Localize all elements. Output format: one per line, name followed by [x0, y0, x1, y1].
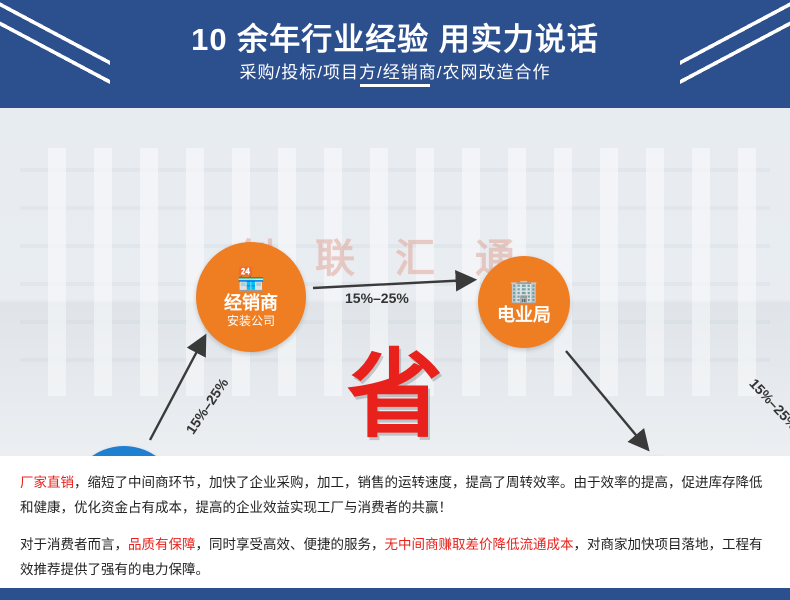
paragraph-1-highlight: 厂家直销 — [20, 475, 74, 490]
node-power-bureau-label: 电业局 — [497, 305, 551, 326]
page-root: 10 余年行业经验 用实力说话 采购/投标/项目方/经销商/农网改造合作 创联汇… — [0, 0, 790, 600]
paragraph-2-highlight-2: 无中间商赚取差价降低流通成本 — [385, 537, 574, 552]
page-header: 10 余年行业经验 用实力说话 采购/投标/项目方/经销商/农网改造合作 — [0, 0, 790, 108]
footer-stripe — [0, 588, 790, 600]
paragraph-2-text-a: 对于消费者而言， — [20, 537, 128, 552]
node-dealer-sublabel: 安装公司 — [227, 314, 275, 328]
building-icon: 🏢 — [510, 279, 539, 303]
page-subtitle: 采购/投标/项目方/经销商/农网改造合作 — [0, 58, 790, 83]
paragraph-1: 厂家直销，缩短了中间商环节，加快了企业采购，加工，销售的运转速度，提高了周转效率… — [20, 470, 770, 520]
flow-diagram: 创联汇通 🏪 经销商 安装公司 🏢 电业局 — [0, 108, 790, 456]
page-title: 10 余年行业经验 用实力说话 — [0, 14, 790, 59]
node-dealer-label: 经销商 — [224, 293, 278, 314]
paragraph-2-highlight-1: 品质有保障 — [128, 537, 196, 552]
node-power-bureau[interactable]: 🏢 电业局 — [478, 256, 570, 348]
paragraph-1-text: ，缩短了中间商环节，加快了企业采购，加工，销售的运转速度，提高了周转效率。由于效… — [20, 475, 763, 515]
center-save-character: 省 — [330, 348, 460, 444]
paragraph-2: 对于消费者而言，品质有保障，同时享受高效、便捷的服务，无中间商赚取差价降低流通成… — [20, 532, 770, 582]
paragraph-2-text-b: ，同时享受高效、便捷的服务， — [196, 537, 385, 552]
title-underline — [360, 84, 430, 87]
description-block: 厂家直销，缩短了中间商环节，加快了企业采购，加工，销售的运转速度，提高了周转效率… — [0, 456, 790, 600]
shop-icon: 🏪 — [237, 267, 266, 291]
node-dealer[interactable]: 🏪 经销商 安装公司 — [196, 242, 306, 352]
edge-label-dealer-to-power: 15%–25% — [345, 290, 409, 306]
